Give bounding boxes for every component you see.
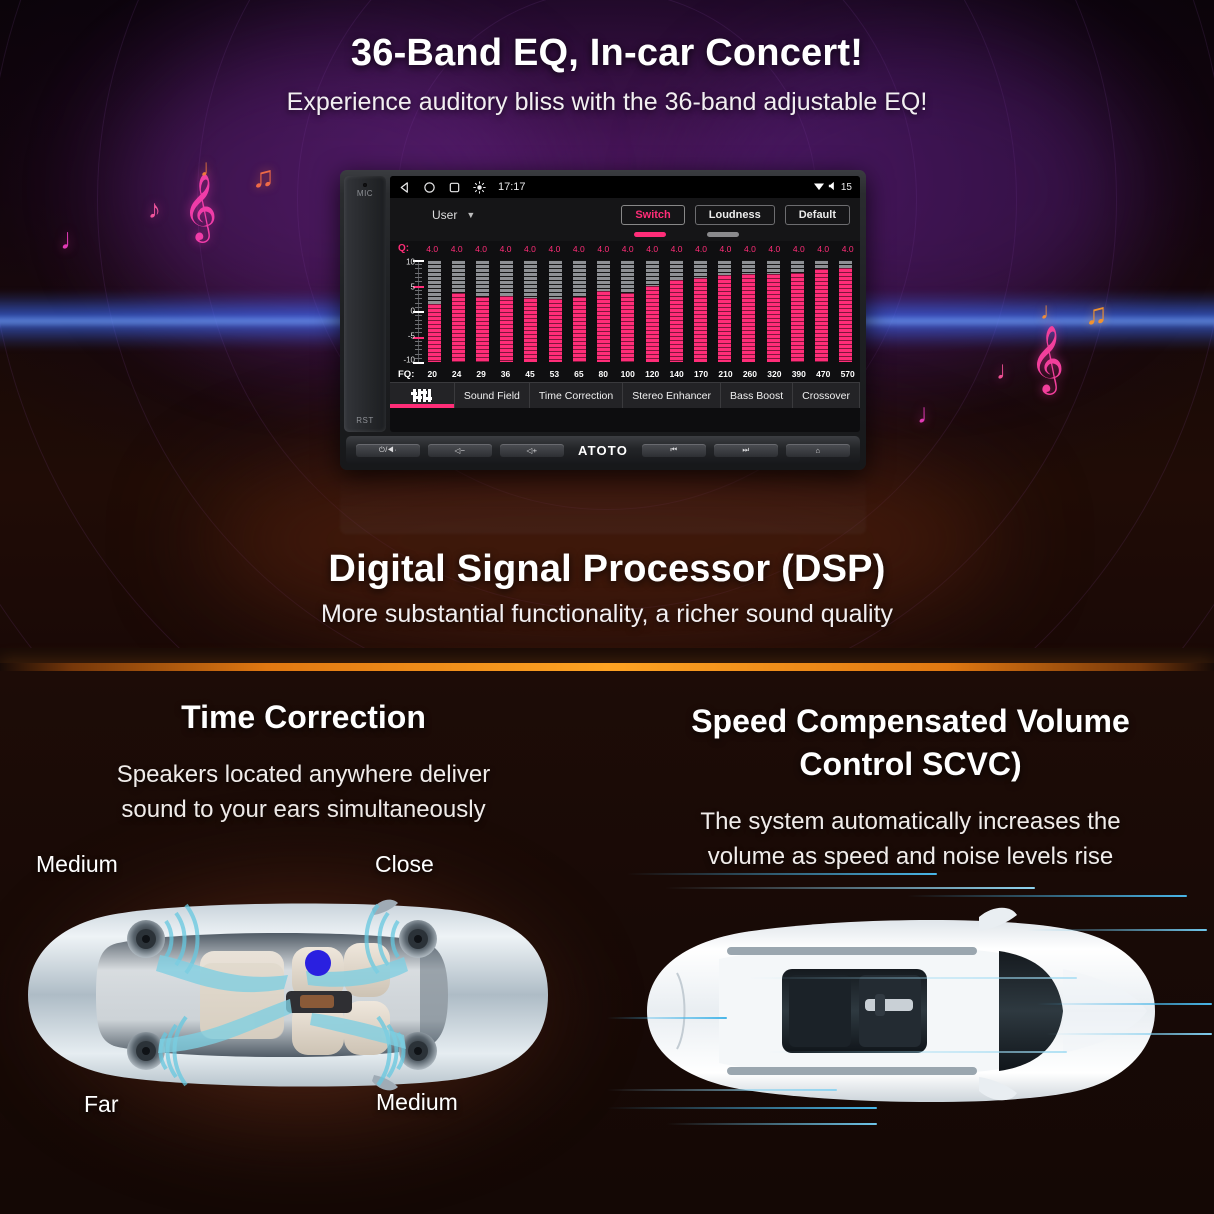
frequency-values: 2024293645536580100120140170210260320390… — [420, 369, 860, 379]
q-value-row: Q: 4.04.04.04.04.04.04.04.04.04.04.04.04… — [390, 241, 860, 256]
q-value[interactable]: 4.0 — [420, 244, 444, 254]
eq-band[interactable] — [543, 260, 567, 362]
q-value[interactable]: 4.0 — [469, 244, 493, 254]
eq-band-fill[interactable] — [597, 291, 610, 362]
time-correction-body-line2: sound to your ears simultaneously — [0, 793, 607, 828]
hero-subtitle-text: Experience auditory bliss with the 36-ba… — [0, 88, 1214, 117]
eq-y-tick: 5 — [411, 282, 415, 291]
eq-band[interactable] — [567, 260, 591, 362]
eq-band[interactable] — [834, 260, 858, 362]
speed-line — [767, 1051, 1067, 1053]
eq-band-fill[interactable] — [646, 286, 659, 363]
android-status-bar: 17:17 15 — [390, 176, 860, 198]
q-value[interactable]: 4.0 — [811, 244, 835, 254]
speed-line — [1037, 1003, 1212, 1005]
eq-band-fill[interactable] — [718, 275, 731, 362]
eq-band[interactable] — [470, 260, 494, 362]
eq-band-track[interactable] — [621, 260, 634, 362]
head-unit-screen[interactable]: 17:17 15 User ▼ Switch Loudness Default — [390, 176, 860, 432]
eq-band[interactable] — [737, 260, 761, 362]
time-correction-title: Time Correction — [0, 699, 607, 736]
eq-toolbar-buttons: Switch Loudness Default — [621, 205, 850, 225]
music-beamed-note-icon: ♫ — [1085, 300, 1108, 330]
music-note-icon: ♩ — [996, 357, 1022, 383]
frequency-value: 100 — [616, 369, 640, 379]
mic-hole-icon — [363, 183, 367, 187]
speed-line — [665, 887, 1035, 889]
music-note-icon: ♩ — [60, 225, 90, 255]
default-button[interactable]: Default — [785, 205, 850, 225]
brand-logo: ATOTO — [572, 443, 634, 458]
eq-band-track[interactable] — [742, 260, 755, 362]
back-icon[interactable] — [398, 181, 411, 194]
music-note-icon: ♩ — [200, 157, 224, 181]
dsp-title: Digital Signal Processor (DSP) — [0, 548, 1214, 591]
eq-band-fill[interactable] — [452, 293, 465, 362]
music-note-icon: ♩ — [917, 400, 945, 428]
q-value[interactable]: 4.0 — [787, 244, 811, 254]
tab-stereo-enhancer[interactable]: Stereo Enhancer — [623, 383, 721, 408]
hero-subtitle: Experience auditory bliss with the 36-ba… — [0, 88, 1214, 117]
mic-label: MIC — [344, 189, 386, 198]
frequency-value: 29 — [469, 369, 493, 379]
wifi-icon — [813, 181, 825, 194]
treble-clef-icon: 𝄞 — [183, 178, 217, 236]
eq-band[interactable] — [713, 260, 737, 362]
q-value[interactable]: 4.0 — [664, 244, 688, 254]
frequency-value: 320 — [762, 369, 786, 379]
eq-y-tick: -5 — [408, 331, 415, 340]
frequency-row: FQ: 202429364553658010012014017021026032… — [390, 366, 860, 382]
eq-band[interactable] — [810, 260, 834, 362]
eq-band[interactable] — [592, 260, 616, 362]
toggle-indicator-row — [390, 232, 860, 241]
diagram-label-bottom-right: Medium — [376, 1089, 458, 1116]
frequency-value: 120 — [640, 369, 664, 379]
eq-y-tick: 10 — [406, 258, 415, 267]
frequency-value: 80 — [591, 369, 615, 379]
frequency-value: 53 — [542, 369, 566, 379]
head-unit-left-rail: MIC RST — [344, 176, 386, 432]
eq-band-fill[interactable] — [428, 304, 441, 362]
head-unit-reflection — [340, 470, 866, 534]
speed-line — [627, 873, 937, 875]
eq-band[interactable] — [785, 260, 809, 362]
eq-band-fill[interactable] — [573, 297, 586, 362]
eq-band[interactable] — [495, 260, 519, 362]
eq-band-fill[interactable] — [767, 274, 780, 362]
loudness-toggle-off[interactable] — [707, 232, 739, 237]
hero-title: 36-Band EQ, In-car Concert! — [0, 32, 1214, 75]
frequency-value: 65 — [567, 369, 591, 379]
eq-band-track[interactable] — [597, 260, 610, 362]
tab-sound-field[interactable]: Sound Field — [455, 383, 530, 408]
volume-down-button[interactable]: ◁− — [428, 444, 492, 457]
eq-band-fill[interactable] — [839, 268, 852, 362]
eq-band-fill[interactable] — [815, 269, 828, 362]
q-value[interactable]: 4.0 — [689, 244, 713, 254]
tab-label: Time Correction — [539, 390, 613, 402]
switch-toggle-on[interactable] — [634, 232, 666, 237]
diagram-label-bottom-left: Far — [84, 1091, 119, 1118]
tab-equalizer[interactable] — [390, 383, 455, 408]
speed-line — [607, 1017, 727, 1019]
head-unit: MIC RST 17:17 — [340, 170, 866, 470]
eq-band-track[interactable] — [694, 260, 707, 362]
eq-band-track[interactable] — [718, 260, 731, 362]
scvc-diagram — [607, 851, 1214, 1171]
eq-band-track[interactable] — [524, 260, 537, 362]
eq-band-track[interactable] — [791, 260, 804, 362]
eq-band-track[interactable] — [500, 260, 513, 362]
tab-crossover[interactable]: Crossover — [793, 383, 860, 408]
eq-y-axis: 1050-5-10 — [398, 256, 420, 366]
play-pause-button[interactable]: ⏭ — [714, 444, 778, 457]
scvc-title-line1: Speed Compensated Volume — [607, 703, 1214, 740]
treble-clef-icon: 𝄞 — [1030, 330, 1064, 388]
previous-track-button[interactable]: ⏮ — [642, 444, 706, 457]
music-note-icon: ♪ — [148, 196, 161, 222]
switch-button[interactable]: Switch — [621, 205, 684, 225]
eq-band-fill[interactable] — [791, 273, 804, 362]
q-row-label: Q: — [398, 243, 420, 254]
speed-line — [667, 1123, 877, 1125]
frequency-value: 24 — [444, 369, 468, 379]
eq-y-tick: 0 — [411, 307, 415, 316]
q-value[interactable]: 4.0 — [640, 244, 664, 254]
q-value[interactable]: 4.0 — [762, 244, 786, 254]
diagram-label-top-left: Medium — [36, 851, 118, 878]
feature-time-correction: Time Correction Speakers located anywher… — [0, 671, 607, 828]
speed-line — [607, 1107, 877, 1109]
q-value[interactable]: 4.0 — [616, 244, 640, 254]
eq-band[interactable] — [664, 260, 688, 362]
frequency-value: 210 — [713, 369, 737, 379]
fq-row-label: FQ: — [398, 369, 420, 380]
eq-band[interactable] — [761, 260, 785, 362]
volume-level: 15 — [841, 182, 852, 193]
eq-band-track[interactable] — [428, 260, 441, 362]
q-value[interactable]: 4.0 — [713, 244, 737, 254]
frequency-value: 570 — [835, 369, 859, 379]
frequency-value: 140 — [664, 369, 688, 379]
q-value[interactable]: 4.0 — [738, 244, 762, 254]
home-icon[interactable] — [423, 181, 436, 194]
frequency-value: 20 — [420, 369, 444, 379]
power-mute-button[interactable]: ⏻/◀· — [356, 444, 420, 457]
recents-icon[interactable] — [448, 181, 461, 194]
eq-band-fill[interactable] — [500, 296, 513, 362]
brightness-icon[interactable] — [473, 181, 486, 194]
frequency-value: 260 — [738, 369, 762, 379]
chevron-down-icon[interactable]: ▼ — [466, 210, 475, 220]
eq-band[interactable] — [422, 260, 446, 362]
hero-title-text: 36-Band EQ, In-car Concert! — [0, 32, 1214, 75]
eq-band-track[interactable] — [573, 260, 586, 362]
tab-bass-boost[interactable]: Bass Boost — [721, 383, 793, 408]
music-beamed-note-icon: ♫ — [252, 163, 275, 193]
speaker-front-left — [127, 920, 165, 958]
time-correction-body-line1: Speakers located anywhere deliver — [0, 758, 607, 793]
frequency-value: 170 — [689, 369, 713, 379]
speed-line — [607, 1089, 837, 1091]
car-top-view-illustration — [0, 843, 607, 1173]
eq-band-fill[interactable] — [549, 299, 562, 362]
eq-graph[interactable]: 1050-5-10 — [390, 256, 860, 366]
home-button[interactable]: ⌂ — [786, 444, 850, 457]
eq-band-track[interactable] — [839, 260, 852, 362]
eq-band[interactable] — [688, 260, 712, 362]
eq-axis-ruler — [418, 260, 419, 362]
eq-band-fill[interactable] — [694, 278, 707, 362]
q-value[interactable]: 4.0 — [835, 244, 859, 254]
eq-toolbar: User ▼ Switch Loudness Default — [390, 198, 860, 232]
frequency-value: 36 — [493, 369, 517, 379]
frequency-value: 390 — [787, 369, 811, 379]
music-note-icon: ♩ — [1040, 300, 1064, 324]
active-tab-indicator — [390, 404, 454, 408]
q-value[interactable]: 4.0 — [518, 244, 542, 254]
dsp-title-text: Digital Signal Processor (DSP) — [0, 548, 1214, 591]
speed-line — [747, 977, 1077, 979]
eq-bars[interactable] — [420, 256, 860, 366]
volume-icon — [828, 181, 838, 194]
head-unit-button-bar: ⏻/◀·◁−◁+ATOTO⏮⏭⌂ — [346, 436, 860, 464]
eq-band-fill[interactable] — [524, 298, 537, 362]
eq-band-fill[interactable] — [742, 274, 755, 362]
q-value[interactable]: 4.0 — [493, 244, 517, 254]
speed-line — [1047, 1033, 1212, 1035]
eq-y-tick: -10 — [403, 356, 415, 365]
q-value[interactable]: 4.0 — [591, 244, 615, 254]
features-section: Time Correction Speakers located anywher… — [0, 671, 1214, 1214]
eq-band-track[interactable] — [646, 260, 659, 362]
eq-band-fill[interactable] — [476, 297, 489, 362]
eq-tab-bar[interactable]: Sound FieldTime CorrectionStereo Enhance… — [390, 382, 860, 408]
equalizer-icon — [413, 389, 431, 402]
reset-label[interactable]: RST — [344, 416, 386, 425]
status-clock: 17:17 — [498, 181, 526, 193]
speed-line — [1027, 929, 1207, 931]
eq-band[interactable] — [446, 260, 470, 362]
feature-scvc: Speed Compensated Volume Control SCVC) T… — [607, 671, 1214, 875]
eq-band-track[interactable] — [452, 260, 465, 362]
q-value[interactable]: 4.0 — [542, 244, 566, 254]
dsp-subtitle: More substantial functionality, a richer… — [0, 600, 1214, 629]
section-divider — [0, 663, 1214, 671]
q-values[interactable]: 4.04.04.04.04.04.04.04.04.04.04.04.04.04… — [420, 244, 860, 254]
time-correction-diagram: Medium Close Far Medium — [0, 843, 607, 1173]
tab-label: Stereo Enhancer — [632, 390, 711, 402]
eq-band[interactable] — [519, 260, 543, 362]
eq-band-fill[interactable] — [621, 293, 634, 362]
dsp-subtitle-text: More substantial functionality, a richer… — [0, 600, 1214, 629]
loudness-button[interactable]: Loudness — [695, 205, 775, 225]
q-value[interactable]: 4.0 — [444, 244, 468, 254]
speaker-front-right — [399, 920, 437, 958]
eq-band-track[interactable] — [815, 260, 828, 362]
eq-band[interactable] — [616, 260, 640, 362]
tab-time-correction[interactable]: Time Correction — [530, 383, 623, 408]
eq-band-track[interactable] — [476, 260, 489, 362]
tab-label: Crossover — [802, 390, 850, 402]
volume-up-button[interactable]: ◁+ — [500, 444, 564, 457]
eq-band[interactable] — [640, 260, 664, 362]
preset-label: User — [432, 208, 457, 222]
frequency-value: 45 — [518, 369, 542, 379]
eq-band-track[interactable] — [670, 260, 683, 362]
listener-position-dot — [305, 950, 331, 976]
eq-band-track[interactable] — [549, 260, 562, 362]
diagram-label-top-right: Close — [375, 851, 434, 878]
eq-band-fill[interactable] — [670, 280, 683, 362]
tab-label: Bass Boost — [730, 390, 783, 402]
eq-band-track[interactable] — [767, 260, 780, 362]
scvc-body-line1: The system automatically increases the — [607, 805, 1214, 840]
frequency-value: 470 — [811, 369, 835, 379]
tab-label: Sound Field — [464, 390, 520, 402]
scvc-title-line2: Control SCVC) — [607, 746, 1214, 783]
speed-line — [907, 895, 1187, 897]
preset-selector[interactable]: User ▼ — [432, 208, 475, 222]
q-value[interactable]: 4.0 — [567, 244, 591, 254]
status-bar-right: 15 — [813, 181, 852, 194]
